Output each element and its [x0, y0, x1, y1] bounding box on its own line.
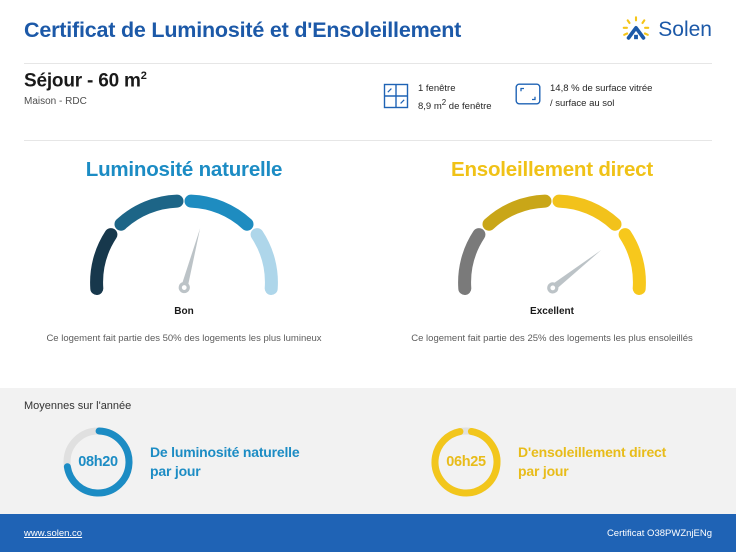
- page-header: Certificat de Luminosité et d'Ensoleille…: [0, 0, 736, 60]
- sun-house-logo-icon: [621, 16, 651, 44]
- gauge-rating-luminosity: Bon: [0, 306, 368, 317]
- gauge-heading-luminosity: Luminosité naturelle: [0, 158, 368, 182]
- fact-windows-line2: 8,9 m2 de fenêtre: [418, 97, 492, 115]
- certificate-page: Certificat de Luminosité et d'Ensoleille…: [0, 0, 736, 552]
- gauges-section: Luminosité naturelle Bon Ce logement fai…: [0, 150, 736, 385]
- averages-row: 08h20 De luminosité naturelle par jour 0…: [0, 424, 736, 500]
- fact-glazing-ratio: 14,8 % de surface vitrée / surface au so…: [515, 82, 652, 111]
- info-divider: [24, 140, 712, 141]
- footer-certificate-id: Certificat O38PWZnjENg: [607, 528, 712, 539]
- gauge-description-luminosity: Ce logement fait partie des 50% des loge…: [39, 331, 329, 346]
- gauge-segment-4: [257, 235, 271, 289]
- property-title-superscript: 2: [141, 70, 147, 82]
- fact-windows-line1: 1 fenêtre: [418, 82, 492, 97]
- gauge-needle-sunlight: [545, 246, 605, 296]
- gauge-segment-1: [97, 235, 111, 289]
- average-label-sunlight-line2: par jour: [518, 462, 666, 481]
- gauge-panel-luminosity: Luminosité naturelle Bon Ce logement fai…: [0, 150, 368, 385]
- gauge-description-sunlight: Ce logement fait partie des 25% des loge…: [407, 331, 697, 346]
- brand-name: Solen: [658, 18, 712, 42]
- average-item-sunlight: 06h25 D'ensoleillement direct par jour: [368, 424, 736, 500]
- footer-website-link[interactable]: www.solen.co: [24, 528, 82, 539]
- gauge-segment-2: [489, 201, 545, 224]
- fact-windows: 1 fenêtre 8,9 m2 de fenêtre: [383, 82, 492, 115]
- gauge-sunlight: [447, 190, 657, 302]
- average-label-luminosity-line1: De luminosité naturelle: [150, 443, 299, 462]
- fact-windows-line2-post: de fenêtre: [446, 101, 491, 112]
- brand-logo-group: Solen: [621, 16, 712, 44]
- fact-windows-line2-pre: 8,9 m: [418, 101, 442, 112]
- property-info: Séjour - 60 m2 Maison - RDC 1 fenêtre 8,…: [0, 70, 736, 136]
- averages-title: Moyennes sur l'année: [24, 400, 131, 412]
- average-label-luminosity-line2: par jour: [150, 462, 299, 481]
- page-footer: www.solen.co Certificat O38PWZnjENg: [0, 514, 736, 552]
- average-item-luminosity: 08h20 De luminosité naturelle par jour: [0, 424, 368, 500]
- donut-sunlight: 06h25: [428, 424, 504, 500]
- gauge-luminosity: [79, 190, 289, 302]
- fact-glazing-line2: / surface au sol: [550, 97, 652, 112]
- fact-glazing-line1: 14,8 % de surface vitrée: [550, 82, 652, 97]
- window-pane-icon: [383, 83, 409, 114]
- donut-luminosity: 08h20: [60, 424, 136, 500]
- gauge-panel-sunlight: Ensoleillement direct Excellent Ce logem…: [368, 150, 736, 385]
- gauge-rating-sunlight: Excellent: [368, 306, 736, 317]
- gauge-segment-1: [465, 235, 479, 289]
- gauge-segment-2: [121, 201, 177, 224]
- average-label-sunlight-line1: D'ensoleillement direct: [518, 443, 666, 462]
- fact-glazing-text: 14,8 % de surface vitrée / surface au so…: [550, 82, 652, 111]
- gauge-heading-sunlight: Ensoleillement direct: [368, 158, 736, 182]
- donut-value-luminosity: 08h20: [60, 424, 136, 500]
- gauge-needle-luminosity: [177, 227, 205, 295]
- average-label-sunlight: D'ensoleillement direct par jour: [518, 443, 666, 481]
- average-label-luminosity: De luminosité naturelle par jour: [150, 443, 299, 481]
- page-title: Certificat de Luminosité et d'Ensoleille…: [24, 18, 461, 43]
- floor-area-icon: [515, 83, 541, 110]
- donut-value-sunlight: 06h25: [428, 424, 504, 500]
- header-divider: [24, 63, 712, 64]
- gauge-segment-3: [191, 201, 247, 224]
- gauge-segment-3: [559, 201, 615, 224]
- gauge-segment-4: [625, 235, 639, 289]
- property-title-text: Séjour - 60 m: [24, 70, 141, 91]
- averages-section: Moyennes sur l'année 08h20 De luminosité…: [0, 388, 736, 514]
- fact-windows-text: 1 fenêtre 8,9 m2 de fenêtre: [418, 82, 492, 115]
